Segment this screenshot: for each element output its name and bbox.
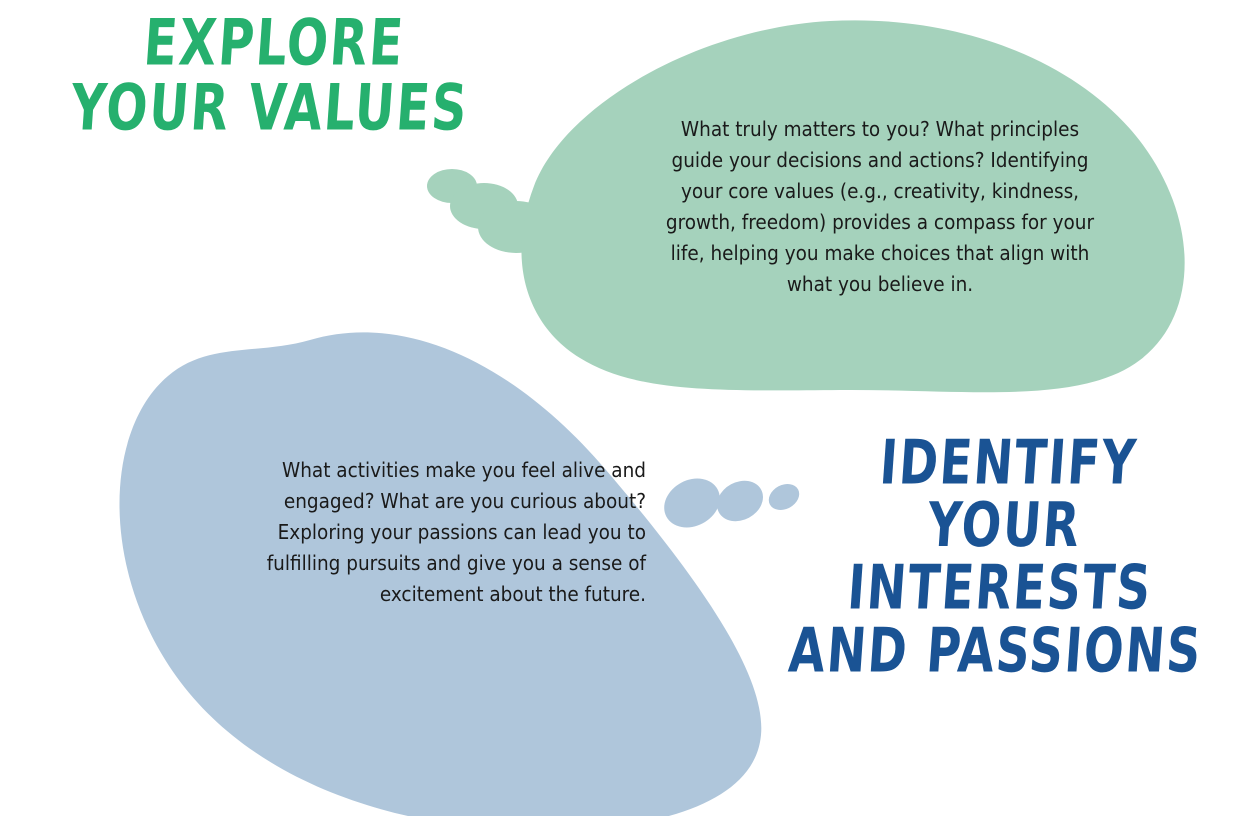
green-bubble-small: [427, 169, 477, 203]
infographic-canvas: EXPLORE YOUR VALUES What truly matters t…: [0, 0, 1252, 816]
green-bubble-large: [478, 201, 554, 253]
identify-passions-heading: IDENTIFY YOUR INTERESTS AND PASSIONS: [763, 433, 1241, 683]
green-bubble-medium: [450, 183, 518, 229]
explore-values-body: What truly matters to you? What principl…: [654, 114, 1106, 300]
blue-bubble-large: [656, 469, 729, 537]
blue-bubble-medium: [710, 473, 770, 529]
green-bubble-trail: [427, 169, 554, 253]
explore-values-heading: EXPLORE YOUR VALUES: [17, 10, 526, 140]
identify-passions-body: What activities make you feel alive and …: [200, 455, 646, 610]
